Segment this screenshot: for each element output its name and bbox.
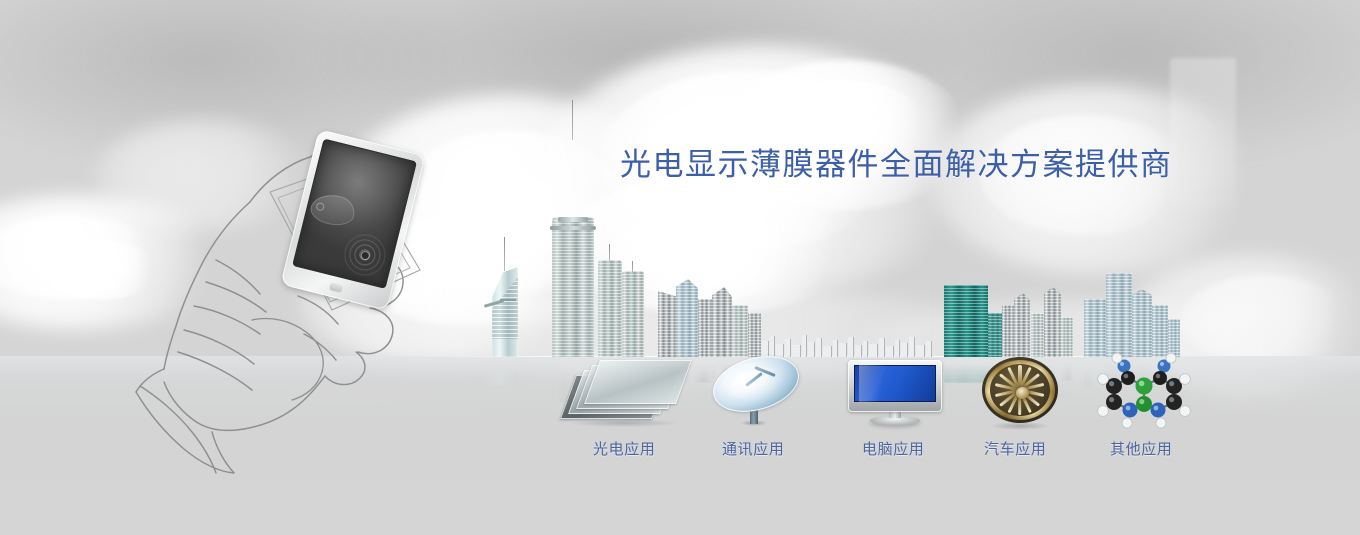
screen-ripple-graphic — [338, 228, 391, 281]
lowrise-cluster — [762, 331, 934, 357]
tower-d5 — [1061, 317, 1073, 357]
tower-c4 — [712, 287, 732, 357]
tall-tower-main — [552, 217, 594, 357]
teal-tower — [944, 285, 988, 357]
molecule-icon[interactable] — [1098, 356, 1190, 428]
tower-c2 — [676, 279, 698, 357]
mid-tower-a — [598, 260, 622, 357]
app-label-computer[interactable]: 电脑应用 — [862, 438, 924, 459]
blue-tower-e — [1168, 319, 1180, 357]
screen-swirl-graphic — [308, 190, 358, 230]
tower-d4 — [1044, 287, 1061, 357]
blue-tower-d — [1152, 305, 1168, 357]
tower-d1 — [1002, 305, 1014, 357]
app-label-other[interactable]: 其他应用 — [1110, 438, 1172, 459]
phone-home-button — [328, 281, 344, 293]
computer-monitor-icon[interactable] — [848, 360, 942, 426]
tower-c1 — [658, 291, 676, 357]
car-wheel-icon[interactable] — [982, 357, 1062, 429]
page-title: 光电显示薄膜器件全面解决方案提供商 — [620, 139, 1173, 184]
tower-c5 — [732, 305, 748, 357]
blue-tower-b — [1106, 273, 1132, 357]
tower-c6 — [748, 313, 761, 357]
glass-panels-icon[interactable] — [566, 359, 686, 425]
app-label-communication[interactable]: 通讯应用 — [722, 438, 784, 459]
mid-tower-b — [622, 271, 644, 357]
tower-d3 — [1031, 313, 1044, 357]
blue-tower-c — [1132, 289, 1152, 357]
teal-tower-low — [988, 313, 1002, 357]
app-label-automotive[interactable]: 汽车应用 — [984, 438, 1046, 459]
satellite-dish-icon[interactable] — [708, 356, 804, 426]
app-label-optoelectronic[interactable]: 光电应用 — [593, 438, 655, 459]
hero-banner: 光电显示薄膜器件全面解决方案提供商 — [0, 0, 1360, 535]
tower-d2 — [1014, 293, 1030, 357]
blue-tower-a — [1084, 299, 1106, 357]
sail-tower — [484, 267, 518, 357]
tower-c3 — [698, 299, 712, 357]
